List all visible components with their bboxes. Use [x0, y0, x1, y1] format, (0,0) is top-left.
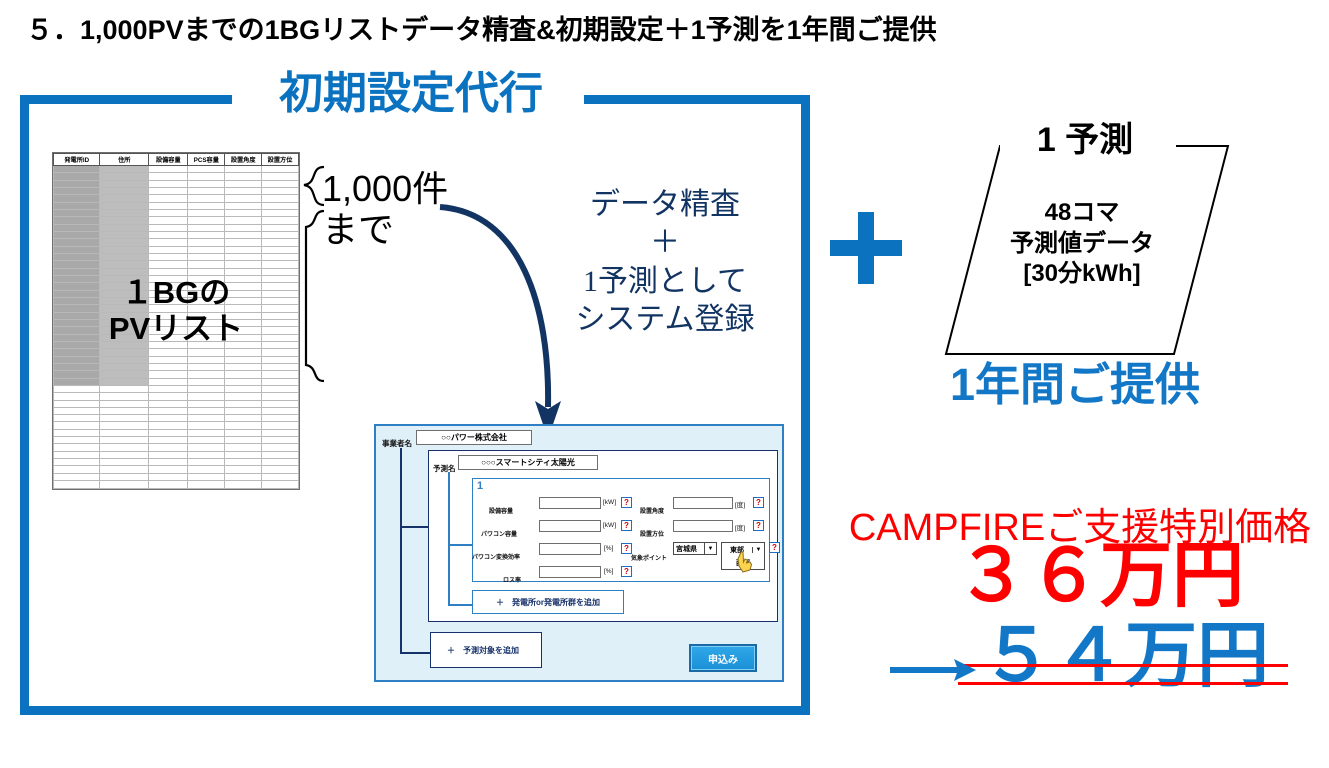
table-cell [188, 415, 225, 422]
weather-prefecture-select[interactable]: 宮城県 ▼ [673, 542, 717, 555]
inner-tree-line [448, 472, 450, 604]
table-cell [225, 261, 262, 268]
table-cell [225, 363, 262, 370]
forecast-name-input[interactable]: ○○○スマートシティ太陽光 [458, 455, 598, 470]
table-cell [100, 459, 149, 466]
table-cell [149, 363, 188, 370]
table-cell [100, 209, 149, 216]
table-cell [262, 173, 299, 180]
table-cell [225, 341, 262, 348]
table-cell [149, 180, 188, 187]
right-arrow-icon [888, 648, 978, 688]
table-row [54, 231, 299, 238]
table-cell [225, 231, 262, 238]
table-cell [100, 180, 149, 187]
table-cell [225, 356, 262, 363]
table-cell [262, 209, 299, 216]
table-row [54, 349, 299, 356]
table-cell [262, 444, 299, 451]
table-cell [149, 334, 188, 341]
table-cell [149, 407, 188, 414]
table-row [54, 451, 299, 458]
table-cell [149, 275, 188, 282]
table-cell [262, 166, 299, 173]
table-cell [149, 385, 188, 392]
field-label-pcs-capacity: パワコン容量 [481, 523, 517, 541]
table-cell [262, 312, 299, 319]
table-row [54, 275, 299, 282]
table-cell [188, 166, 225, 173]
page-title: ５．1,000PVまでの1BGリストデータ精査&初期設定＋1予測を1年間ご提供 [26, 8, 1306, 47]
capacity-unit: [kW] [603, 499, 616, 506]
table-cell [188, 356, 225, 363]
table-cell [225, 349, 262, 356]
table-cell [100, 356, 149, 363]
table-cell [149, 261, 188, 268]
table-cell [225, 180, 262, 187]
table-row [54, 459, 299, 466]
table-cell [262, 319, 299, 326]
tilt-angle-input[interactable] [673, 497, 733, 509]
table-cell [100, 283, 149, 290]
table-cell [188, 312, 225, 319]
table-cell [225, 305, 262, 312]
field-label-conversion-efficiency: パワコン変換効率 [472, 546, 520, 564]
table-cell [54, 246, 100, 253]
table-cell [100, 253, 149, 260]
table-cell [54, 195, 100, 202]
table-cell [100, 297, 149, 304]
table-cell [100, 349, 149, 356]
conversion-efficiency-input[interactable] [539, 543, 601, 555]
table-cell [149, 217, 188, 224]
table-cell [188, 195, 225, 202]
capacity-input[interactable] [539, 497, 601, 509]
table-cell [54, 334, 100, 341]
table-cell [188, 400, 225, 407]
field-label-tilt-angle: 設置角度 [640, 500, 664, 518]
table-cell [54, 451, 100, 458]
table-cell [149, 297, 188, 304]
table-cell [149, 246, 188, 253]
table-cell [262, 202, 299, 209]
table-row [54, 261, 299, 268]
table-cell [149, 268, 188, 275]
table-row [54, 246, 299, 253]
table-cell [262, 283, 299, 290]
pcs-capacity-unit: [kW] [603, 522, 616, 529]
table-cell [54, 319, 100, 326]
table-cell [149, 415, 188, 422]
table-cell [188, 371, 225, 378]
table-cell [100, 224, 149, 231]
table-row [54, 195, 299, 202]
azimuth-help-icon[interactable]: ? [753, 520, 764, 531]
table-cell [100, 334, 149, 341]
table-cell [262, 341, 299, 348]
table-cell [54, 275, 100, 282]
table-cell [149, 312, 188, 319]
table-row [54, 319, 299, 326]
table-cell [188, 297, 225, 304]
pcs-capacity-help-icon[interactable]: ? [621, 520, 632, 531]
table-cell [188, 268, 225, 275]
table-cell [262, 231, 299, 238]
table-cell [225, 173, 262, 180]
table-cell [149, 473, 188, 480]
table-cell [54, 349, 100, 356]
tilt-angle-unit: [度] [735, 499, 745, 509]
table-cell [225, 224, 262, 231]
table-cell [188, 341, 225, 348]
table-cell [100, 202, 149, 209]
table-cell [262, 407, 299, 414]
table-cell [225, 400, 262, 407]
field-label-weather-point: 気象ポイント [631, 547, 667, 565]
cursor-hand-icon [734, 550, 760, 576]
table-cell [225, 429, 262, 436]
table-cell [149, 283, 188, 290]
table-cell [262, 437, 299, 444]
table-row [54, 180, 299, 187]
table-cell [54, 481, 100, 489]
table-cell [100, 422, 149, 429]
forecast-line-3: [30分kWh] [962, 259, 1202, 290]
table-cell [149, 378, 188, 385]
table-cell [100, 246, 149, 253]
table-cell [100, 195, 149, 202]
table-row [54, 437, 299, 444]
table-cell [262, 224, 299, 231]
table-cell [149, 166, 188, 173]
table-cell [149, 231, 188, 238]
table-row [54, 341, 299, 348]
table-cell [149, 444, 188, 451]
table-row [54, 415, 299, 422]
field-label-loss-rate: ロス率 [503, 569, 521, 587]
table-row [54, 166, 299, 173]
table-cell [54, 283, 100, 290]
table-row [54, 173, 299, 180]
table-cell [262, 466, 299, 473]
table-cell [100, 261, 149, 268]
table-cell [225, 444, 262, 451]
table-row [54, 473, 299, 480]
table-cell [100, 239, 149, 246]
table-cell [262, 187, 299, 194]
inner-tree-branch [448, 604, 472, 606]
add-forecast-target-button[interactable]: ＋ 予測対象を追加 [430, 632, 542, 668]
table-cell [54, 312, 100, 319]
table-cell [149, 209, 188, 216]
table-cell [188, 283, 225, 290]
plus-icon: ＋ [496, 597, 504, 608]
table-cell [54, 400, 100, 407]
table-cell [225, 283, 262, 290]
table-cell [54, 217, 100, 224]
table-cell [225, 466, 262, 473]
table-cell [225, 268, 262, 275]
pcs-capacity-input[interactable] [539, 520, 601, 532]
table-row [54, 481, 299, 489]
table-cell [188, 473, 225, 480]
table-cell [54, 429, 100, 436]
table-cell [54, 356, 100, 363]
table-cell [262, 217, 299, 224]
spreadsheet-table: 発電所ID 住所 設備容量 PCS容量 設置角度 設置方位 [53, 153, 299, 489]
table-cell [188, 459, 225, 466]
inner-tree-branch [448, 544, 472, 546]
table-cell [225, 451, 262, 458]
table-row [54, 371, 299, 378]
table-row [54, 466, 299, 473]
table-cell [149, 173, 188, 180]
table-cell [262, 261, 299, 268]
table-row [54, 429, 299, 436]
operator-name-input[interactable]: ○○パワー株式会社 [416, 430, 532, 445]
submit-button[interactable]: 申込み [689, 644, 757, 672]
table-cell [100, 378, 149, 385]
plus-icon [826, 208, 906, 288]
table-cell [225, 253, 262, 260]
tree-line-vertical [400, 448, 402, 652]
table-cell [225, 319, 262, 326]
table-cell [54, 422, 100, 429]
table-cell [225, 481, 262, 489]
table-cell [262, 451, 299, 458]
table-cell [54, 166, 100, 173]
conversion-efficiency-unit: [%] [604, 545, 613, 552]
table-cell [188, 231, 225, 238]
table-cell [188, 319, 225, 326]
table-cell [100, 415, 149, 422]
table-cell [100, 437, 149, 444]
table-cell [54, 363, 100, 370]
table-cell [54, 187, 100, 194]
table-cell [188, 429, 225, 436]
table-cell [54, 393, 100, 400]
table-cell [149, 195, 188, 202]
table-cell [188, 202, 225, 209]
table-row [54, 385, 299, 392]
table-cell [54, 341, 100, 348]
table-cell [225, 407, 262, 414]
table-cell [100, 407, 149, 414]
table-cell [149, 349, 188, 356]
table-cell [262, 290, 299, 297]
forecast-box-body: 48コマ 予測値データ [30分kWh] [962, 198, 1202, 290]
table-cell [262, 415, 299, 422]
table-row [54, 290, 299, 297]
table-cell [100, 429, 149, 436]
table-cell [262, 239, 299, 246]
loss-rate-unit: [%] [604, 568, 613, 575]
table-cell [149, 393, 188, 400]
table-cell [262, 180, 299, 187]
table-row [54, 400, 299, 407]
table-cell [188, 224, 225, 231]
loss-rate-input[interactable] [539, 566, 601, 578]
table-cell [225, 290, 262, 297]
table-cell [54, 459, 100, 466]
table-cell [262, 297, 299, 304]
table-cell [149, 356, 188, 363]
table-cell [54, 466, 100, 473]
table-cell [188, 180, 225, 187]
table-cell [225, 473, 262, 480]
table-cell [149, 422, 188, 429]
forecast-line-1: 48コマ [962, 198, 1202, 229]
table-cell [54, 231, 100, 238]
table-cell [100, 231, 149, 238]
table-row [54, 327, 299, 334]
table-row [54, 444, 299, 451]
table-row [54, 305, 299, 312]
table-cell [188, 173, 225, 180]
table-cell [225, 239, 262, 246]
table-cell [225, 275, 262, 282]
table-cell [262, 429, 299, 436]
operator-name-label: 事業者名 [382, 433, 412, 451]
table-cell [188, 327, 225, 334]
table-row [54, 363, 299, 370]
table-row [54, 239, 299, 246]
tilt-angle-help-icon[interactable]: ? [753, 497, 764, 508]
plus-icon: ＋ [447, 645, 455, 656]
table-cell [100, 451, 149, 458]
table-cell [149, 429, 188, 436]
column-header: 設備容量 [149, 154, 188, 166]
table-cell [100, 187, 149, 194]
table-cell [262, 253, 299, 260]
table-cell [54, 407, 100, 414]
table-row [54, 209, 299, 216]
table-cell [54, 261, 100, 268]
offer-duration: 1年間ご提供 [905, 348, 1245, 413]
table-cell [100, 268, 149, 275]
azimuth-input[interactable] [673, 520, 733, 532]
table-cell [149, 187, 188, 194]
table-cell [262, 305, 299, 312]
table-cell [149, 239, 188, 246]
table-cell [188, 385, 225, 392]
table-cell [54, 444, 100, 451]
table-cell [54, 378, 100, 385]
column-header: 設置方位 [262, 154, 299, 166]
table-cell [225, 187, 262, 194]
table-row [54, 224, 299, 231]
column-header: PCS容量 [188, 154, 225, 166]
table-cell [100, 363, 149, 370]
table-cell [188, 444, 225, 451]
table-cell [262, 268, 299, 275]
table-cell [100, 312, 149, 319]
table-cell [100, 444, 149, 451]
table-cell [262, 363, 299, 370]
table-cell [149, 253, 188, 260]
forecast-line-2: 予測値データ [962, 229, 1202, 260]
table-cell [225, 246, 262, 253]
table-cell [225, 459, 262, 466]
table-cell [188, 349, 225, 356]
table-cell [149, 451, 188, 458]
curved-arrow-icon [430, 195, 630, 445]
table-cell [188, 363, 225, 370]
chevron-down-icon: ▼ [704, 543, 716, 554]
add-plant-button[interactable]: ＋ 発電所or発電所群を追加 [472, 590, 624, 614]
table-cell [54, 224, 100, 231]
table-cell [54, 327, 100, 334]
table-cell [262, 356, 299, 363]
loss-rate-help-icon[interactable]: ? [621, 566, 632, 577]
table-cell [149, 305, 188, 312]
table-cell [149, 202, 188, 209]
table-cell [225, 385, 262, 392]
table-row [54, 393, 299, 400]
table-row [54, 268, 299, 275]
table-cell [100, 275, 149, 282]
table-cell [188, 209, 225, 216]
table-cell [188, 407, 225, 414]
table-cell [225, 393, 262, 400]
weather-point-help-icon[interactable]: ? [769, 542, 780, 553]
table-cell [262, 481, 299, 489]
table-cell [54, 371, 100, 378]
table-cell [225, 202, 262, 209]
table-cell [100, 400, 149, 407]
table-cell [100, 217, 149, 224]
table-cell [225, 217, 262, 224]
column-header: 設置角度 [225, 154, 262, 166]
table-row [54, 378, 299, 385]
table-cell [100, 305, 149, 312]
spreadsheet-body [54, 166, 299, 489]
capacity-help-icon[interactable]: ? [621, 497, 632, 508]
table-cell [100, 290, 149, 297]
table-cell [149, 327, 188, 334]
table-cell [149, 466, 188, 473]
table-cell [188, 305, 225, 312]
table-cell [100, 327, 149, 334]
table-cell [149, 437, 188, 444]
table-cell [188, 422, 225, 429]
table-cell [100, 385, 149, 392]
azimuth-unit: [度] [735, 522, 745, 532]
table-cell [188, 246, 225, 253]
table-cell [225, 334, 262, 341]
table-cell [188, 437, 225, 444]
table-cell [262, 473, 299, 480]
table-row [54, 187, 299, 194]
special-price: ３６万円 [900, 540, 1300, 612]
table-row [54, 253, 299, 260]
table-cell [54, 290, 100, 297]
table-cell [225, 312, 262, 319]
table-row [54, 422, 299, 429]
table-cell [54, 268, 100, 275]
table-cell [54, 385, 100, 392]
table-cell [188, 451, 225, 458]
pv-list-spreadsheet: 発電所ID 住所 設備容量 PCS容量 設置角度 設置方位 [52, 152, 300, 490]
table-cell [262, 275, 299, 282]
table-cell [225, 378, 262, 385]
table-cell [188, 261, 225, 268]
table-cell [54, 180, 100, 187]
table-cell [225, 327, 262, 334]
table-cell [225, 437, 262, 444]
table-row [54, 356, 299, 363]
table-cell [225, 209, 262, 216]
